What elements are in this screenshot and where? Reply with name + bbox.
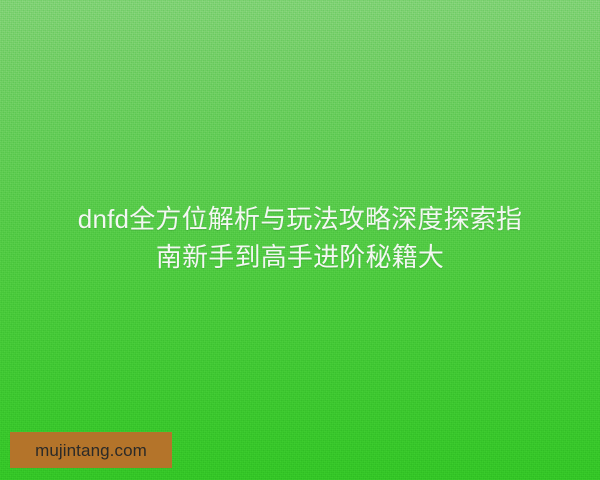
watermark-site-label: mujintang.com: [35, 442, 147, 459]
watermark-badge: mujintang.com: [10, 432, 172, 468]
page-title-line-2: 南新手到高手进阶秘籍大: [0, 238, 600, 276]
cover-image-canvas: dnfd全方位解析与玩法攻略深度探索指 南新手到高手进阶秘籍大 mujintan…: [0, 0, 600, 480]
page-title-line-1: dnfd全方位解析与玩法攻略深度探索指: [0, 200, 600, 238]
page-title: dnfd全方位解析与玩法攻略深度探索指 南新手到高手进阶秘籍大: [0, 200, 600, 276]
